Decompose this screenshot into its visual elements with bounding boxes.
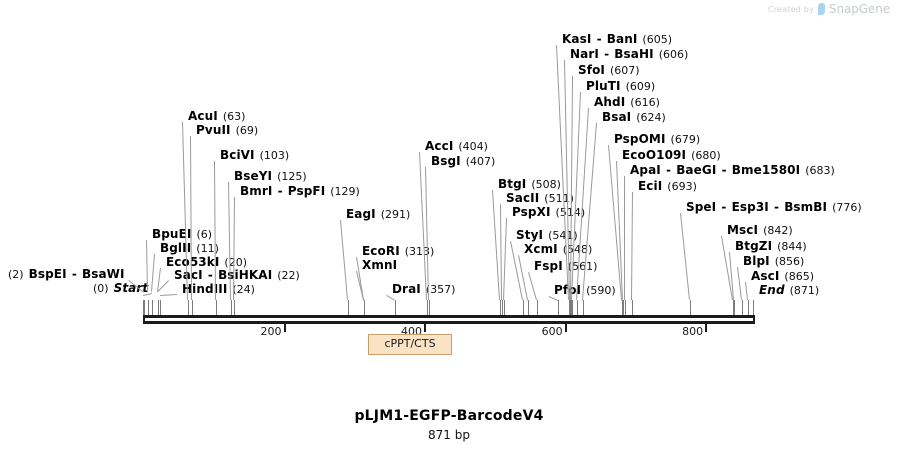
enzyme-label-acui[interactable]: AcuI(63)	[188, 110, 245, 123]
enzyme-label-btgi[interactable]: BtgI(508)	[498, 178, 561, 191]
plasmid-name: pLJM1-EGFP-BarcodeV4	[0, 408, 898, 424]
enzyme-position: (693)	[662, 180, 697, 193]
label-leader-line	[151, 254, 155, 292]
enzyme-label-ecoo109i[interactable]: EcoO109I(680)	[622, 149, 721, 162]
restriction-site-tick	[364, 300, 365, 315]
restriction-site-tick	[632, 300, 633, 315]
enzyme-position: (22)	[272, 269, 300, 282]
enzyme-name: EciI	[638, 179, 662, 193]
enzyme-label-sfoi[interactable]: SfoI(607)	[578, 64, 640, 77]
enzyme-label-xmni[interactable]: XmnI	[362, 259, 397, 272]
backbone-lower-rule	[143, 321, 755, 324]
restriction-site-tick	[395, 300, 396, 315]
restriction-site-tick	[500, 300, 501, 315]
enzyme-position: (291)	[376, 208, 411, 221]
enzyme-label-apai[interactable]: ApaI - BaeGI - Bme1580I(683)	[630, 164, 835, 177]
enzyme-name: StyI	[516, 228, 543, 242]
restriction-map-canvas: (0)Start(2)BspEI - BsaWIBpuEI(6)BglII(11…	[0, 0, 898, 400]
label-leader-line	[214, 161, 216, 300]
enzyme-name: BsaI	[602, 110, 631, 124]
restriction-site-tick	[583, 300, 584, 315]
enzyme-position: (605)	[637, 33, 672, 46]
restriction-site-tick	[504, 300, 505, 315]
restriction-site-tick	[623, 300, 624, 315]
enzyme-name: AccI	[425, 139, 453, 153]
enzyme-name: XcmI	[524, 242, 558, 256]
enzyme-position: (844)	[772, 240, 807, 253]
enzyme-label-acci[interactable]: AccI(404)	[425, 140, 488, 153]
enzyme-label-pspomi[interactable]: PspOMI(679)	[614, 133, 700, 146]
restriction-site-tick	[216, 300, 217, 315]
label-leader-line	[340, 220, 348, 300]
restriction-site-tick	[188, 300, 189, 315]
enzyme-label-bmri[interactable]: BmrI - PspFI(129)	[240, 185, 360, 198]
enzyme-name: PluTI	[586, 79, 621, 93]
enzyme-position: (865)	[779, 270, 814, 283]
enzyme-name: BsgI	[431, 154, 461, 168]
ruler-label: 600	[505, 325, 563, 338]
backbone-upper-rule	[143, 315, 755, 318]
enzyme-name: ApaI	[630, 163, 661, 177]
restriction-site-tick	[537, 300, 538, 315]
enzyme-name: EagI	[346, 207, 376, 221]
enzyme-name: BaeGI	[676, 163, 716, 177]
enzyme-position: (103)	[255, 149, 290, 162]
label-leader-line	[608, 145, 622, 300]
label-leader-line	[190, 136, 192, 300]
enzyme-position: (683)	[800, 164, 835, 177]
label-leader-line	[737, 267, 742, 300]
enzyme-name: BciVI	[220, 148, 255, 162]
enzyme-name-separator: -	[591, 32, 606, 46]
label-leader-line	[518, 255, 528, 300]
enzyme-name: PvuII	[196, 123, 231, 137]
enzyme-name: BspEI	[29, 267, 67, 281]
enzyme-label-eagi[interactable]: EagI(291)	[346, 208, 410, 221]
restriction-site-tick	[558, 300, 559, 315]
restriction-site-tick	[742, 300, 743, 315]
label-leader-line	[745, 282, 748, 300]
enzyme-name: SacII	[506, 191, 539, 205]
restriction-site-tick	[160, 300, 161, 315]
enzyme-position: (69)	[231, 124, 259, 137]
ruler-tick	[705, 324, 707, 332]
enzyme-label-ahdi[interactable]: AhdI(616)	[594, 96, 660, 109]
enzyme-position: (129)	[325, 185, 360, 198]
restriction-site-tick	[528, 300, 529, 315]
backbone-right-cap	[753, 315, 755, 324]
enzyme-name: FspI	[534, 259, 563, 273]
restriction-site-tick	[734, 300, 735, 315]
enzyme-name: Bme1580I	[732, 163, 800, 177]
restriction-site-tick	[572, 300, 573, 315]
enzyme-label-spei[interactable]: SpeI - Esp3I - BsmBI(776)	[686, 201, 862, 214]
restriction-site-tick	[152, 300, 153, 315]
enzyme-name: NarI	[570, 47, 599, 61]
restriction-site-tick	[158, 300, 159, 315]
restriction-site-tick	[231, 300, 232, 315]
ruler-tick	[284, 324, 286, 332]
ruler-tick	[565, 324, 567, 332]
enzyme-name: AcuI	[188, 109, 218, 123]
enzyme-label-hindiii[interactable]: HindIII(24)	[182, 283, 255, 296]
label-leader-line	[729, 252, 734, 300]
enzyme-name: PspOMI	[614, 132, 666, 146]
enzyme-name: End	[759, 283, 785, 297]
ruler-label: 200	[224, 325, 282, 338]
enzyme-position: (607)	[605, 64, 640, 77]
enzyme-label-pfoi[interactable]: PfoI(590)	[554, 284, 616, 297]
restriction-site-tick	[523, 300, 524, 315]
restriction-site-tick	[234, 300, 235, 315]
enzyme-label-ecii[interactable]: EciI(693)	[638, 180, 697, 193]
restriction-site-tick	[748, 300, 749, 315]
enzyme-label-end[interactable]: End(871)	[759, 284, 819, 297]
enzyme-name: BtgZI	[735, 239, 772, 253]
enzyme-position: (679)	[666, 133, 701, 146]
restriction-site-tick	[148, 300, 149, 315]
enzyme-label-nari[interactable]: NarI - BsaHI(606)	[570, 48, 688, 61]
enzyme-name: HindIII	[182, 282, 227, 296]
enzyme-name: AscI	[751, 269, 779, 283]
enzyme-name: DraI	[392, 282, 421, 296]
enzyme-label-bspei[interactable]: (2)BspEI - BsaWI	[8, 268, 125, 281]
enzyme-label-saci[interactable]: SacI - BsiHKAI(22)	[174, 269, 300, 282]
enzyme-label-bsgi[interactable]: BsgI(407)	[431, 155, 495, 168]
enzyme-name: BlpI	[743, 254, 770, 268]
ruler-label: 800	[645, 325, 703, 338]
enzyme-position: (541)	[543, 229, 578, 242]
label-leader-line	[500, 204, 502, 300]
enzyme-name-separator: -	[272, 184, 287, 198]
enzyme-name: BanI	[607, 32, 638, 46]
enzyme-position: (856)	[770, 255, 805, 268]
plasmid-length: 871 bp	[0, 428, 898, 442]
enzyme-label-bpuei[interactable]: BpuEI(6)	[152, 228, 212, 241]
label-leader-line	[160, 294, 177, 296]
enzyme-name-separator: -	[599, 47, 614, 61]
enzyme-position: (0)	[93, 282, 114, 295]
enzyme-name: KasI	[562, 32, 591, 46]
enzyme-name: Esp3I	[732, 200, 769, 214]
restriction-site-tick	[427, 300, 428, 315]
enzyme-name: AhdI	[594, 95, 625, 109]
enzyme-name: EcoO109I	[622, 148, 686, 162]
ruler-tick	[424, 324, 426, 332]
enzyme-name: XmnI	[362, 258, 397, 272]
enzyme-position: (125)	[272, 170, 307, 183]
restriction-site-tick	[348, 300, 349, 315]
enzyme-label-bcivi[interactable]: BciVI(103)	[220, 149, 289, 162]
enzyme-label-kasi[interactable]: KasI - BanI(605)	[562, 33, 672, 46]
enzyme-position: (24)	[227, 283, 255, 296]
enzyme-name: MscI	[727, 223, 758, 237]
enzyme-label-pluti[interactable]: PluTI(609)	[586, 80, 655, 93]
restriction-site-tick	[502, 300, 503, 315]
label-leader-line	[624, 176, 625, 300]
enzyme-name: SfoI	[578, 63, 605, 77]
enzyme-name: BsaHI	[614, 47, 653, 61]
enzyme-name: BsmBI	[784, 200, 827, 214]
restriction-site-tick	[753, 300, 754, 315]
enzyme-name: PspXI	[512, 205, 551, 219]
enzyme-position: (508)	[526, 178, 561, 191]
restriction-site-tick	[429, 300, 430, 315]
enzyme-position: (63)	[218, 110, 246, 123]
enzyme-position: (313)	[400, 245, 435, 258]
enzyme-position: (6)	[191, 228, 212, 241]
backbone-left-cap	[143, 315, 145, 324]
enzyme-name: BsaWI	[82, 267, 125, 281]
enzyme-position: (680)	[686, 149, 721, 162]
enzyme-name: PspFI	[288, 184, 325, 198]
restriction-site-tick	[625, 300, 626, 315]
label-leader-line	[631, 192, 633, 300]
enzyme-name: BmrI	[240, 184, 272, 198]
enzyme-name: BseYI	[234, 169, 272, 183]
enzyme-position: (590)	[581, 284, 616, 297]
enzyme-position: (407)	[461, 155, 496, 168]
enzyme-name: Eco53kI	[166, 255, 219, 269]
enzyme-name: SacI	[174, 268, 203, 282]
enzyme-name: BtgI	[498, 177, 526, 191]
enzyme-position: (624)	[631, 111, 666, 124]
label-leader-line	[528, 272, 537, 300]
enzyme-position: (871)	[785, 284, 820, 297]
snapgene-linear-map: Created by SnapGene (0)Start(2)BspEI - B…	[0, 0, 898, 453]
enzyme-label-xcmi[interactable]: XcmI(548)	[524, 243, 592, 256]
feature-cppt-cts[interactable]: cPPT/CTS	[368, 334, 452, 355]
enzyme-label-msci[interactable]: MscI(842)	[727, 224, 793, 237]
enzyme-label-blpi[interactable]: BlpI(856)	[743, 255, 804, 268]
enzyme-name: SpeI	[686, 200, 716, 214]
enzyme-label-drai[interactable]: DraI(357)	[392, 283, 455, 296]
restriction-site-tick	[144, 300, 145, 315]
restriction-site-tick	[577, 300, 578, 315]
enzyme-label-btgzi[interactable]: BtgZI(844)	[735, 240, 807, 253]
map-caption: pLJM1-EGFP-BarcodeV4 871 bp	[0, 408, 898, 442]
enzyme-label-bseyi[interactable]: BseYI(125)	[234, 170, 307, 183]
enzyme-position: (606)	[654, 48, 689, 61]
enzyme-label-bsai[interactable]: BsaI(624)	[602, 111, 666, 124]
restriction-site-tick	[192, 300, 193, 315]
enzyme-label-bglii[interactable]: BglII(11)	[160, 242, 219, 255]
enzyme-name: BsiHKAI	[218, 268, 272, 282]
label-leader-line	[146, 240, 148, 292]
enzyme-position: (776)	[827, 201, 862, 214]
label-leader-line	[492, 190, 500, 300]
enzyme-position: (616)	[625, 96, 660, 109]
enzyme-position: (842)	[758, 224, 793, 237]
enzyme-name: EcoRI	[362, 244, 400, 258]
enzyme-label-asci[interactable]: AscI(865)	[751, 270, 814, 283]
label-leader-line	[680, 213, 690, 300]
enzyme-label-pvuii[interactable]: PvuII(69)	[196, 124, 258, 137]
enzyme-name-separator: -	[716, 200, 731, 214]
enzyme-name-separator: -	[67, 267, 82, 281]
enzyme-position: (2)	[8, 268, 29, 281]
enzyme-name-separator: -	[716, 163, 731, 177]
enzyme-position: (609)	[621, 80, 656, 93]
enzyme-name-separator: -	[661, 163, 676, 177]
restriction-site-tick	[690, 300, 691, 315]
enzyme-position: (511)	[539, 192, 574, 205]
label-leader-line	[503, 218, 507, 300]
enzyme-name-separator: -	[769, 200, 784, 214]
enzyme-position: (404)	[453, 140, 488, 153]
